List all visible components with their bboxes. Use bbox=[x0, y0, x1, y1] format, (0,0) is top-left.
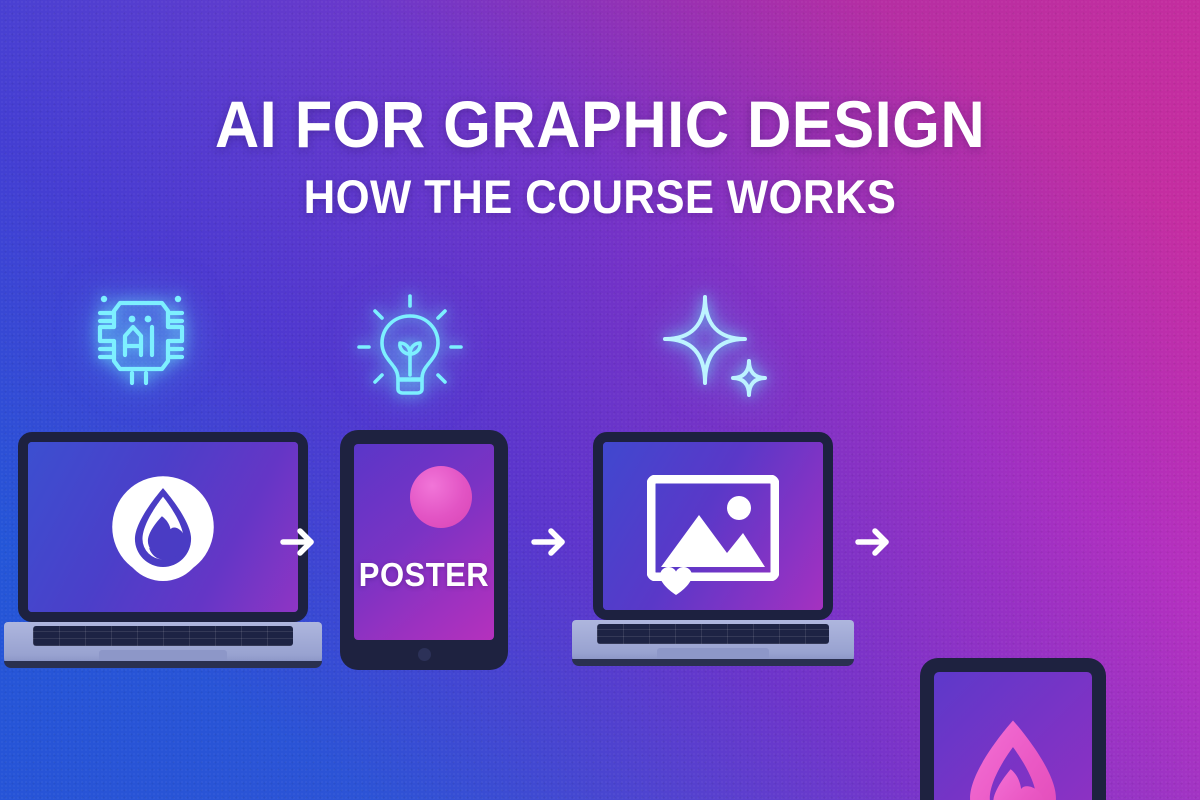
list-item[interactable] bbox=[920, 658, 1106, 800]
laptop-base bbox=[572, 620, 854, 666]
sparkle-icon bbox=[663, 295, 773, 401]
list-item[interactable] bbox=[18, 432, 308, 668]
laptop-screen bbox=[603, 442, 823, 610]
flow-arrow-1 bbox=[277, 522, 321, 562]
flow-arrow-2 bbox=[528, 522, 572, 562]
laptop-base bbox=[4, 622, 322, 668]
poster-label: POSTER bbox=[358, 556, 490, 594]
poster-accent-circle bbox=[410, 466, 472, 528]
list-item[interactable]: POSTER bbox=[340, 430, 508, 670]
droplet-logo-pink bbox=[954, 717, 1072, 800]
page-title: AI FOR GRAPHIC DESIGN bbox=[42, 88, 1158, 160]
laptop-keyboard bbox=[33, 626, 294, 646]
heading-block: AI FOR GRAPHIC DESIGN HOW THE COURSE WOR… bbox=[0, 88, 1200, 226]
droplet-logo-white bbox=[109, 473, 217, 581]
ai-chip-icon bbox=[82, 283, 200, 405]
tablet-screen bbox=[934, 672, 1092, 800]
heart-icon bbox=[659, 566, 693, 596]
list-item[interactable] bbox=[593, 432, 833, 666]
laptop-trackpad bbox=[657, 648, 770, 660]
laptop-trackpad bbox=[99, 650, 226, 662]
tablet-home-button[interactable] bbox=[418, 648, 431, 661]
laptop-lid bbox=[593, 432, 833, 620]
laptop-keyboard bbox=[597, 624, 828, 644]
tablet-screen: POSTER bbox=[354, 444, 494, 640]
page-subtitle: HOW THE COURSE WORKS bbox=[42, 168, 1158, 226]
laptop-screen bbox=[28, 442, 298, 612]
poster-canvas: AI FOR GRAPHIC DESIGN HOW THE COURSE WOR… bbox=[0, 0, 1200, 800]
lightbulb-icon bbox=[355, 292, 465, 400]
flow-arrow-3 bbox=[852, 522, 896, 562]
laptop-lid bbox=[18, 432, 308, 622]
